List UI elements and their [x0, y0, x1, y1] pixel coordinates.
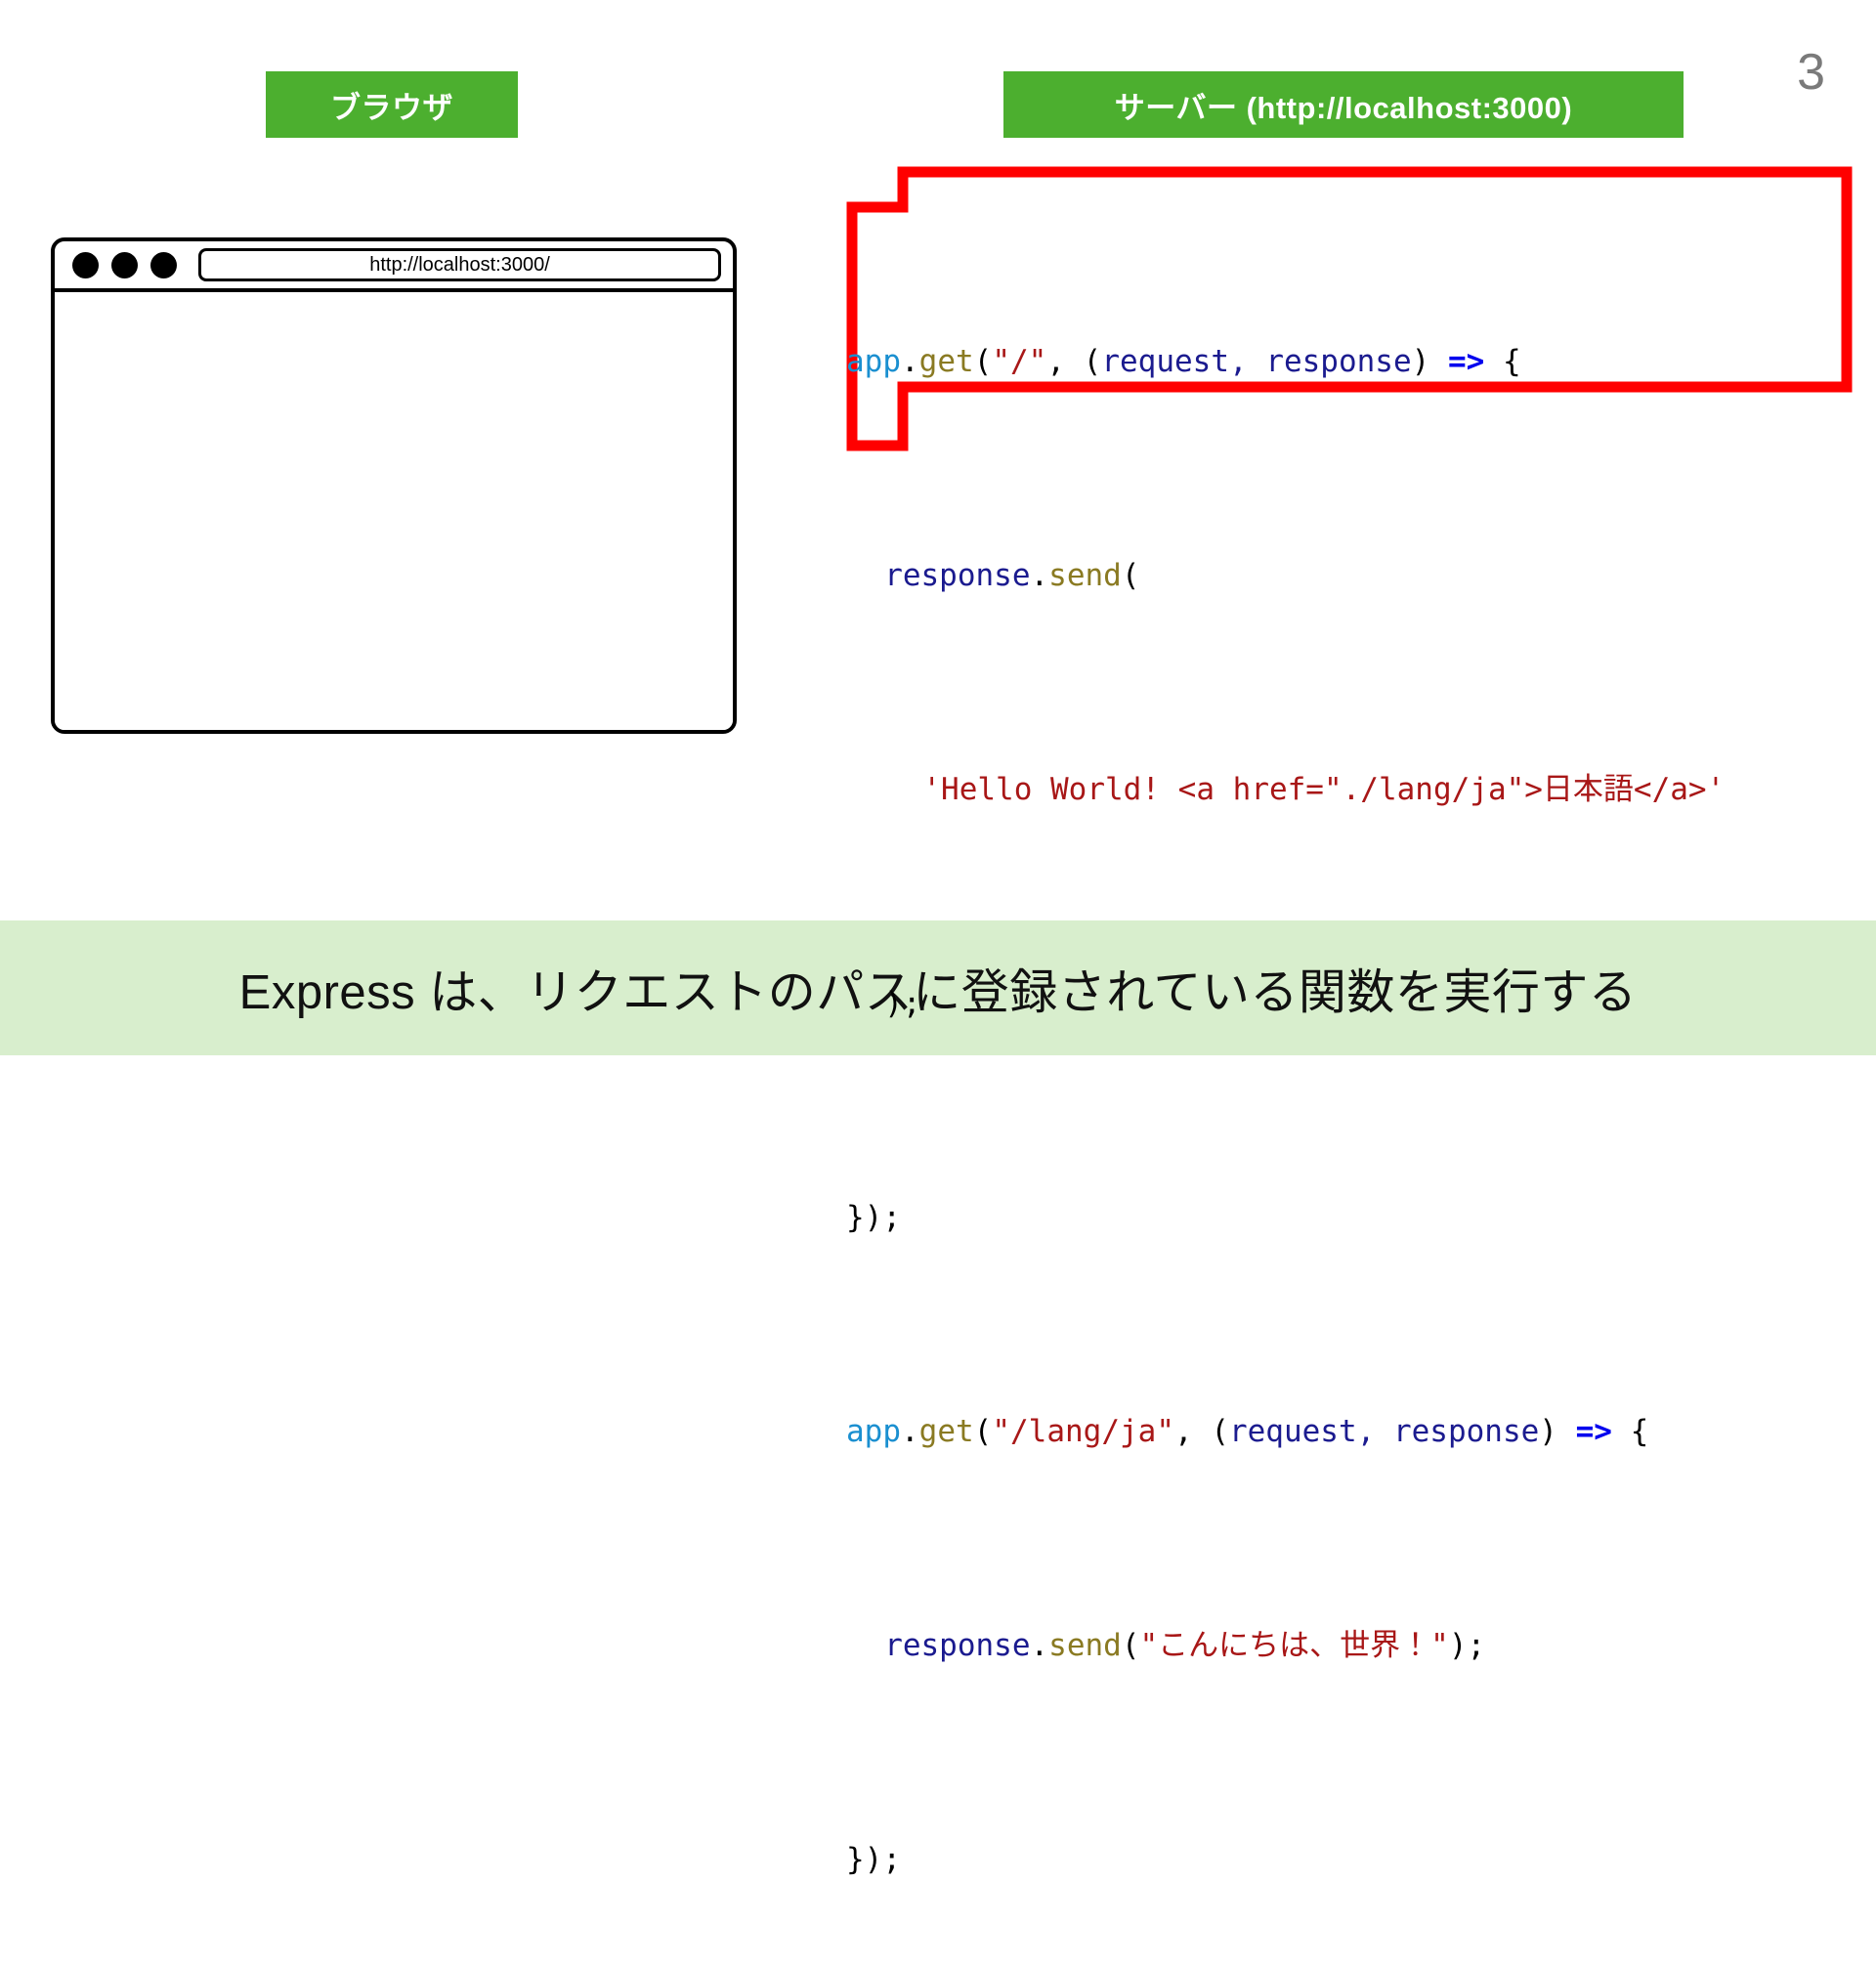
code-token: (	[1084, 344, 1102, 379]
code-line-6: app.get("/lang/ja", (request, response) …	[846, 1396, 1725, 1468]
browser-window-mock: http://localhost:3000/	[51, 237, 737, 734]
code-token: app	[846, 344, 901, 379]
window-close-dot-icon[interactable]	[72, 252, 99, 278]
code-line-7: response.send("こんにちは、世界！");	[846, 1610, 1725, 1682]
code-token: (	[974, 344, 993, 379]
browser-url-bar[interactable]: http://localhost:3000/	[198, 248, 721, 281]
code-line-5: });	[846, 1182, 1725, 1254]
code-line-8: });	[846, 1824, 1725, 1896]
server-section-header: サーバー (http://localhost:3000)	[1003, 71, 1684, 138]
browser-titlebar: http://localhost:3000/	[55, 241, 733, 292]
code-token: 'Hello World! <a href="./lang/ja">日本語</a…	[922, 772, 1725, 807]
code-token: response	[884, 558, 1030, 593]
code-token: send	[1048, 1628, 1122, 1663]
code-line-1: app.get("/", (request, response) => {	[846, 326, 1725, 398]
code-line-4: );	[846, 968, 1725, 1040]
code-token: );	[1449, 1628, 1485, 1663]
code-token: (	[1122, 558, 1140, 593]
window-controls	[72, 252, 177, 278]
code-token: response	[884, 1628, 1030, 1663]
browser-section-header-label: ブラウザ	[330, 83, 453, 127]
code-line-2: response.send(	[846, 540, 1725, 612]
code-token: ,	[1046, 344, 1083, 379]
code-line-3: 'Hello World! <a href="./lang/ja">日本語</a…	[846, 754, 1725, 826]
code-token: {	[1484, 344, 1520, 379]
window-maximize-dot-icon[interactable]	[150, 252, 177, 278]
code-token: .	[901, 344, 919, 379]
code-token: request, response	[1229, 1414, 1539, 1449]
code-token: "/"	[992, 344, 1046, 379]
code-token	[1557, 1414, 1576, 1449]
code-token: );	[884, 986, 920, 1021]
code-token: "こんにちは、世界！"	[1140, 1628, 1449, 1663]
code-token: (	[1122, 1628, 1140, 1663]
browser-section-header: ブラウザ	[266, 71, 518, 138]
code-token: .	[1031, 558, 1049, 593]
browser-viewport	[55, 292, 733, 730]
server-section-header-label: サーバー (http://localhost:3000)	[1115, 83, 1572, 127]
code-token: =>	[1448, 344, 1484, 379]
code-token: (	[974, 1414, 993, 1449]
code-token: ,	[1174, 1414, 1211, 1449]
code-token: )	[1539, 1414, 1557, 1449]
code-token: (	[1211, 1414, 1229, 1449]
code-token: {	[1612, 1414, 1648, 1449]
code-token: get	[919, 344, 974, 379]
code-token: .	[901, 1414, 919, 1449]
code-token: get	[919, 1414, 974, 1449]
code-token: "/lang/ja"	[992, 1414, 1174, 1449]
code-token: .	[1031, 1628, 1049, 1663]
server-code-block: app.get("/", (request, response) => { re…	[846, 184, 1725, 1967]
code-token: request, response	[1101, 344, 1411, 379]
code-token: app	[846, 1414, 901, 1449]
code-token: });	[846, 1842, 901, 1877]
code-token: )	[1412, 344, 1430, 379]
code-token: send	[1048, 558, 1122, 593]
code-token	[1429, 344, 1448, 379]
code-token: =>	[1576, 1414, 1612, 1449]
slide-number: 3	[1797, 47, 1825, 98]
window-minimize-dot-icon[interactable]	[111, 252, 138, 278]
code-token: });	[846, 1200, 901, 1235]
browser-url-text: http://localhost:3000/	[369, 254, 550, 277]
